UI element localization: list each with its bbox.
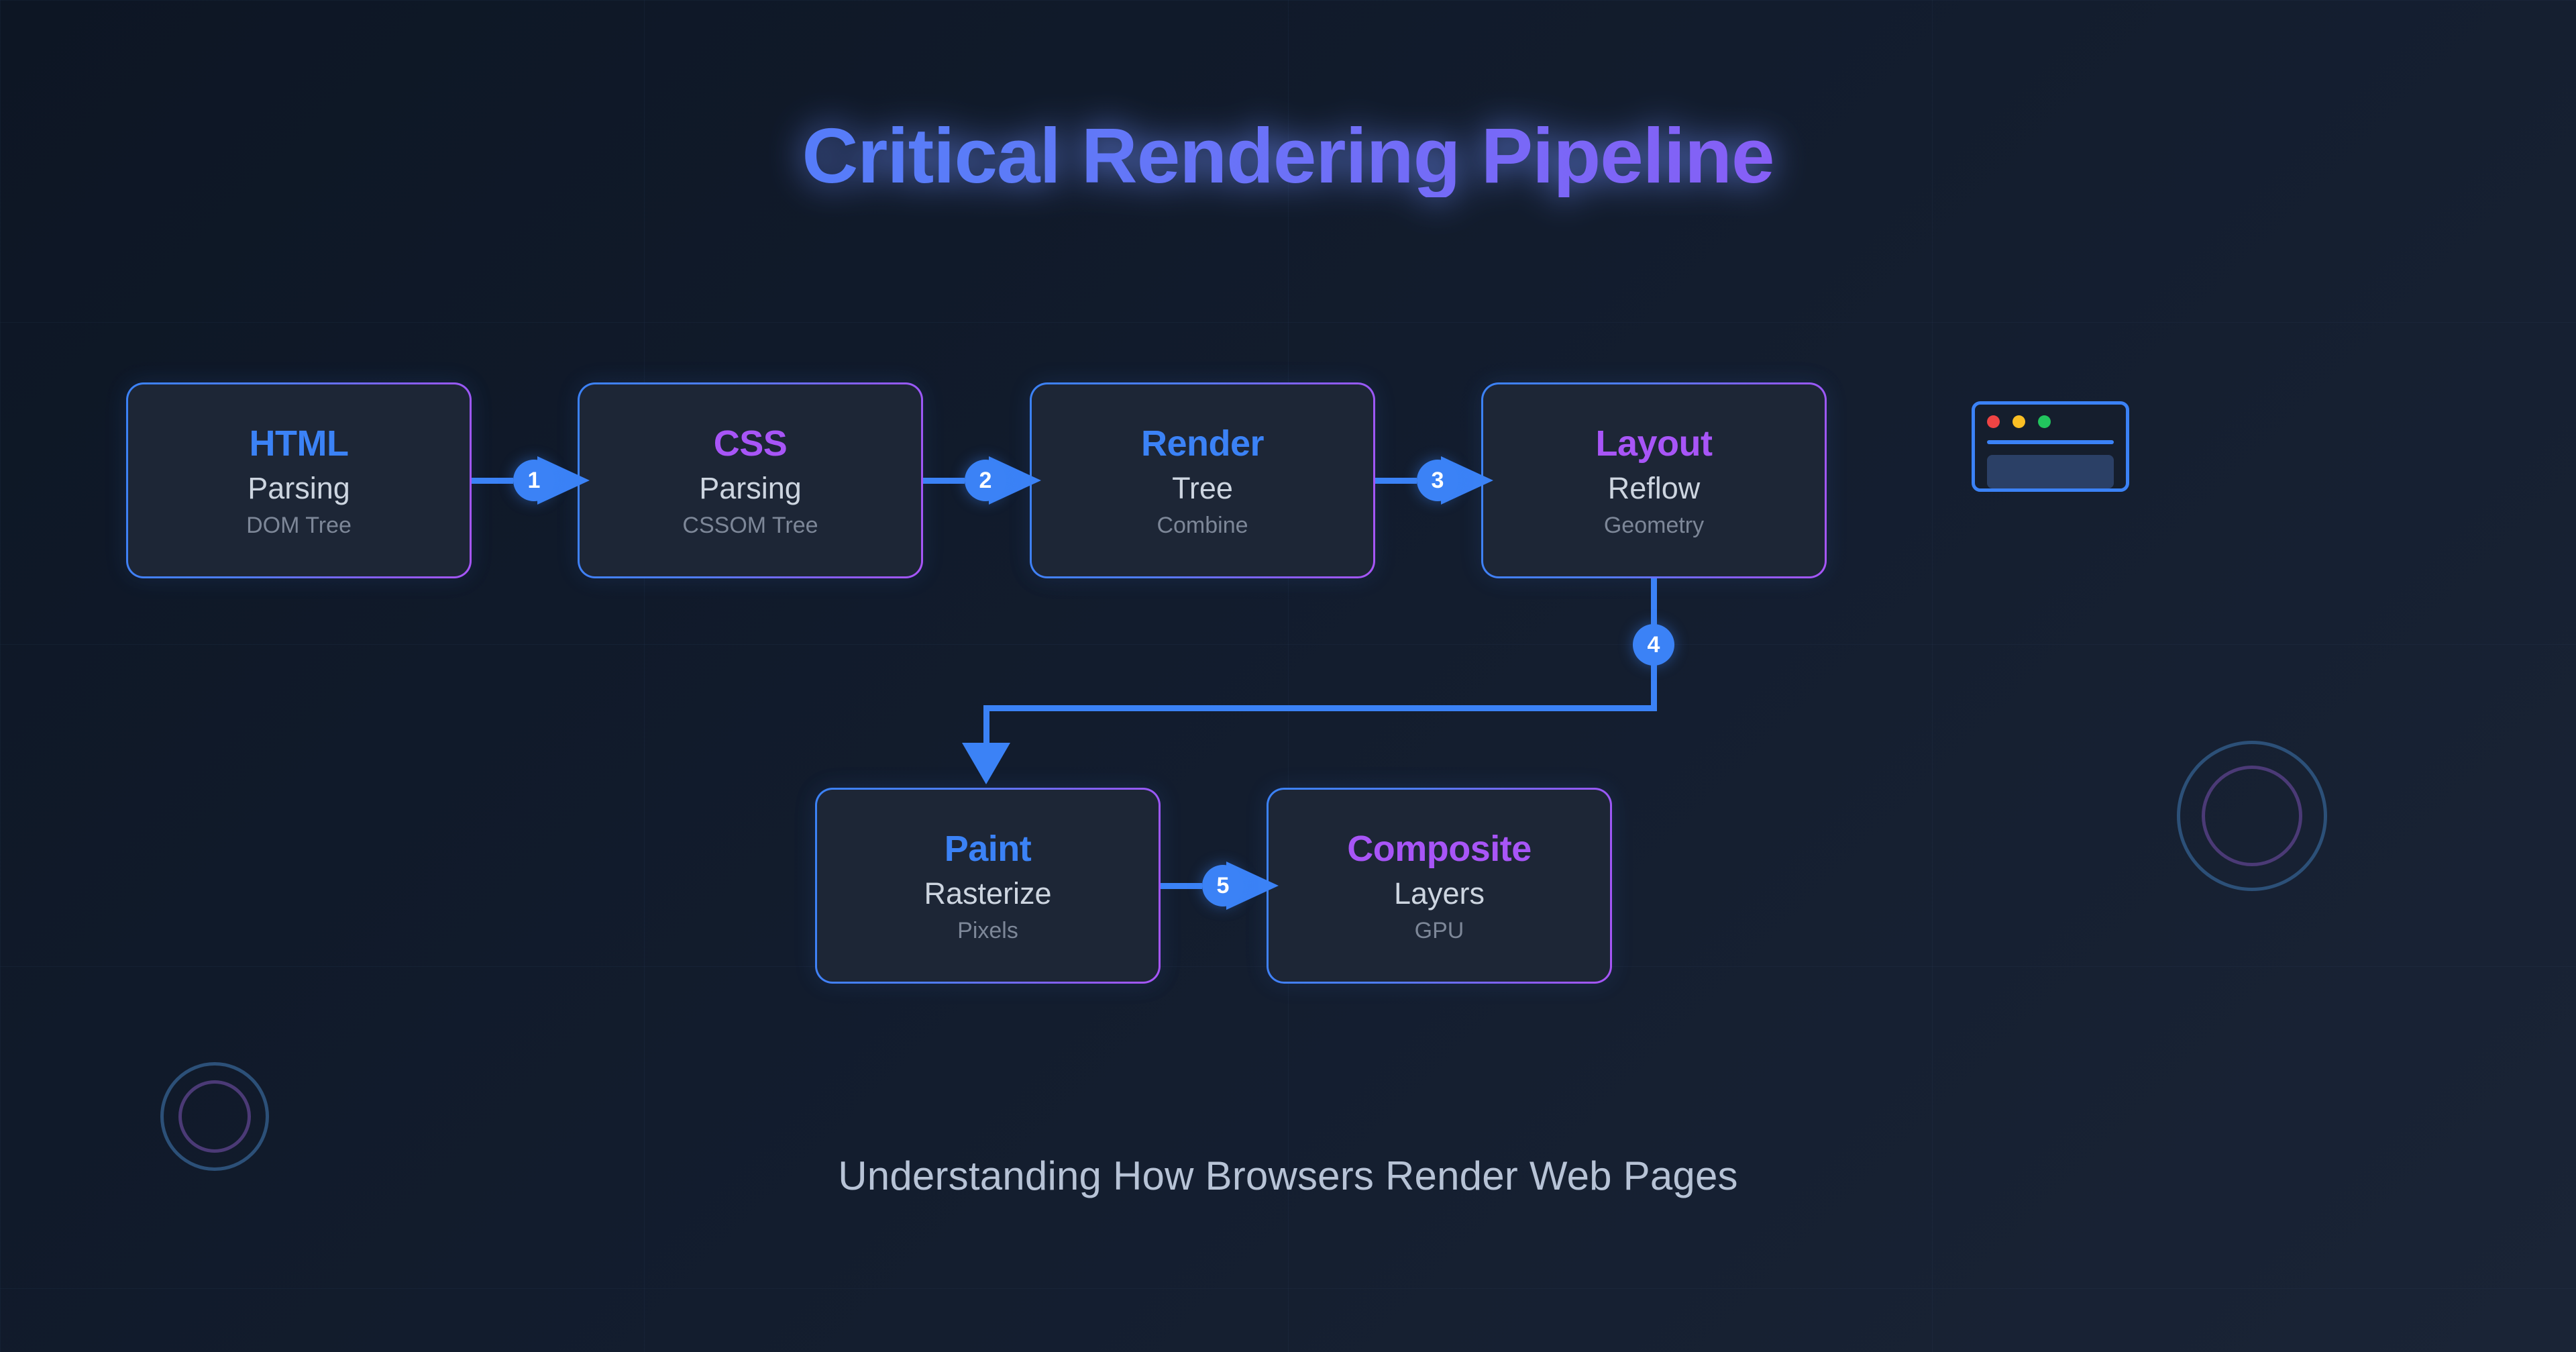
ring-inner-circle (178, 1080, 251, 1153)
page-subtitle: Understanding How Browsers Render Web Pa… (0, 1153, 2576, 1199)
stage-box-css[interactable]: CSS Parsing CSSOM Tree (578, 382, 923, 578)
connector-step-badge: 1 (513, 460, 555, 501)
decorative-ring-small (214, 1116, 215, 1116)
decorative-ring-large (2251, 815, 2252, 816)
diagram-canvas: Critical Rendering Pipeline Critical Ren… (0, 0, 2576, 1352)
stage-title: Layout (1595, 423, 1712, 464)
browser-window-mockup (1972, 401, 2129, 492)
stage-subtitle: Reflow (1608, 471, 1701, 506)
connector-1: 1 (472, 454, 590, 507)
stage-title: Composite (1347, 828, 1532, 870)
stage-note: Pixels (957, 918, 1018, 944)
stage-box-composite[interactable]: Composite Layers GPU (1267, 788, 1612, 984)
page-title: Critical Rendering Pipeline (0, 115, 2576, 197)
stage-box-inner: Render Tree Combine (1032, 384, 1373, 576)
stage-title: CSS (714, 423, 788, 464)
stage-subtitle: Parsing (248, 471, 350, 506)
connector-5: 5 (1161, 859, 1279, 913)
connector-line (1161, 883, 1202, 889)
stage-title: HTML (250, 423, 349, 464)
connector-2: 2 (923, 454, 1041, 507)
window-minimize-dot-icon (2012, 415, 2025, 428)
connector-step-badge: 2 (965, 460, 1006, 501)
window-traffic-lights (1987, 415, 2114, 428)
connector-4-horizontal (983, 705, 1657, 711)
stage-subtitle: Layers (1394, 876, 1485, 911)
page-title-wrapper: Critical Rendering Pipeline Critical Ren… (0, 115, 2576, 197)
stage-box-paint[interactable]: Paint Rasterize Pixels (815, 788, 1161, 984)
ring-inner-circle (2202, 766, 2302, 866)
stage-note: CSSOM Tree (682, 513, 818, 539)
stage-title: Paint (945, 828, 1032, 870)
connector-step-badge: 3 (1417, 460, 1458, 501)
stage-note: Geometry (1604, 513, 1704, 539)
stage-note: GPU (1415, 918, 1464, 944)
window-maximize-dot-icon (2038, 415, 2051, 428)
browser-toolbar-divider (1987, 440, 2114, 444)
connector-3: 3 (1375, 454, 1493, 507)
stage-note: DOM Tree (246, 513, 352, 539)
connector-line (923, 478, 965, 484)
connector-line (1375, 478, 1417, 484)
stage-box-layout[interactable]: Layout Reflow Geometry (1481, 382, 1827, 578)
stage-subtitle: Tree (1172, 471, 1233, 506)
connector-4-vertical-bottom (983, 705, 989, 745)
connector-step-badge: 5 (1202, 865, 1244, 906)
background-grid (0, 0, 2576, 1352)
stage-subtitle: Parsing (699, 471, 802, 506)
stage-box-inner: CSS Parsing CSSOM Tree (580, 384, 921, 576)
stage-title: Render (1141, 423, 1264, 464)
stage-box-inner: Composite Layers GPU (1269, 790, 1610, 982)
stage-note: Combine (1157, 513, 1248, 539)
arrow-down-icon (962, 743, 1010, 784)
browser-content-block (1987, 455, 2114, 488)
stage-box-inner: HTML Parsing DOM Tree (128, 384, 470, 576)
stage-box-render[interactable]: Render Tree Combine (1030, 382, 1375, 578)
connector-line (472, 478, 513, 484)
window-close-dot-icon (1987, 415, 2000, 428)
stage-box-inner: Paint Rasterize Pixels (817, 790, 1159, 982)
connector-step-badge: 4 (1633, 624, 1674, 666)
stage-box-html[interactable]: HTML Parsing DOM Tree (126, 382, 472, 578)
stage-subtitle: Rasterize (924, 876, 1051, 911)
stage-box-inner: Layout Reflow Geometry (1483, 384, 1825, 576)
